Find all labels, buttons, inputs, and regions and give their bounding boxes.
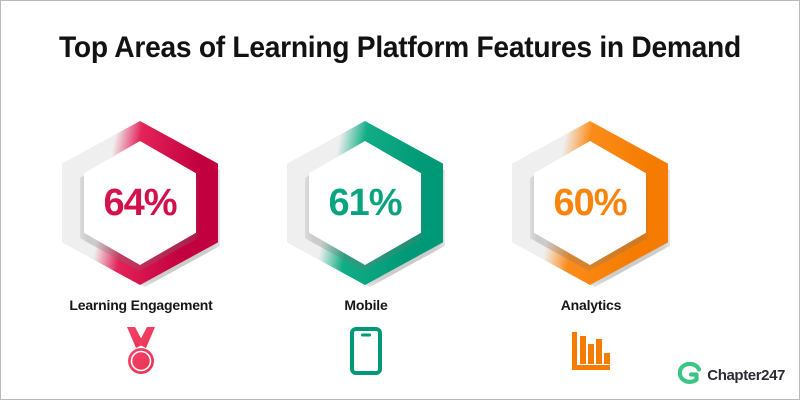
stat-card-learning-engagement[interactable]: 64% Learning Engagement bbox=[41, 119, 241, 377]
percent-value: 60% bbox=[512, 121, 668, 285]
page-title: Top Areas of Learning Platform Features … bbox=[25, 31, 775, 65]
bar-chart-icon bbox=[568, 325, 614, 377]
stat-card-label: Analytics bbox=[561, 297, 621, 313]
hexagon-badge-analytics: 60% bbox=[508, 119, 674, 291]
medal-icon bbox=[119, 325, 163, 377]
stat-card-analytics[interactable]: 60% Analytics bbox=[491, 119, 691, 377]
hexagon-badge-learning-engagement: 64% bbox=[58, 119, 224, 291]
stat-card-label: Mobile bbox=[344, 297, 387, 313]
percent-value: 61% bbox=[287, 121, 443, 285]
stat-card-label: Learning Engagement bbox=[69, 297, 212, 313]
stat-cards-row: 64% Learning Engagement bbox=[41, 119, 691, 377]
infographic-canvas: Top Areas of Learning Platform Features … bbox=[0, 0, 800, 400]
smartphone-icon bbox=[350, 325, 382, 377]
percent-value: 64% bbox=[62, 121, 218, 285]
hexagon-badge-mobile: 61% bbox=[283, 119, 449, 291]
brand-logo-text: Chapter247 bbox=[707, 367, 785, 384]
chapter247-swoosh-icon bbox=[678, 362, 702, 389]
brand-logo[interactable]: Chapter247 bbox=[678, 362, 785, 389]
stat-card-mobile[interactable]: 61% Mobile bbox=[266, 119, 466, 377]
